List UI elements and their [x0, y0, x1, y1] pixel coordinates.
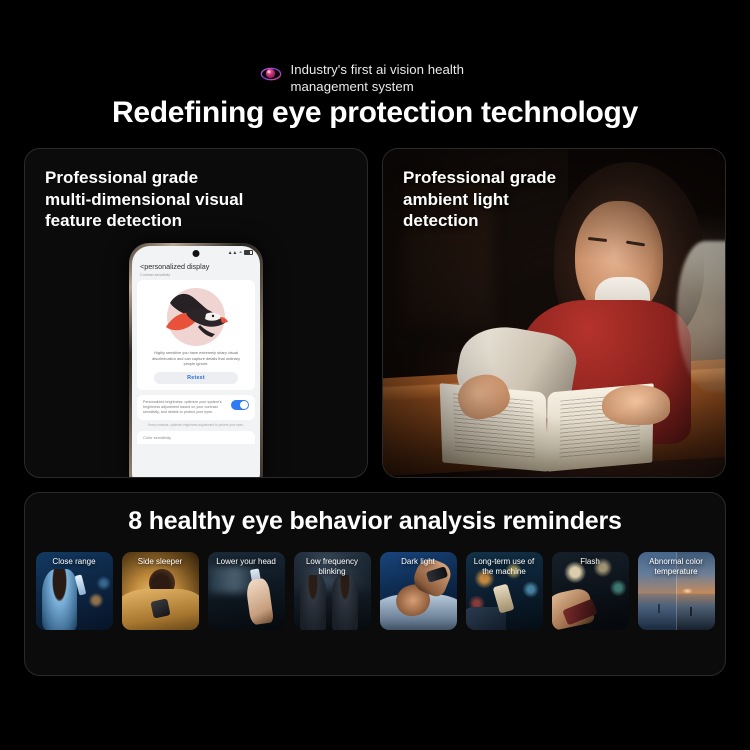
thumb-low-frequency-blinking-label: Low frequency blinking	[294, 557, 371, 576]
thumb-long-term-use-label: Long-term use of the machine	[466, 557, 543, 576]
thumb-abnormal-color-temperature[interactable]: Abnormal color temperature	[638, 552, 715, 630]
page-headline: Redefining eye protection technology	[0, 96, 750, 130]
result-card: Highly sensitive you have extremely shar…	[137, 280, 255, 390]
card-left-title: Professional grade multi-dimensional vis…	[45, 167, 243, 232]
eyebrow-banner: Industry's first ai vision health manage…	[0, 62, 750, 95]
card-visual-feature-detection[interactable]: Professional grade multi-dimensional vis…	[24, 148, 368, 478]
phone-nav-bar[interactable]: <personalized display	[132, 259, 260, 273]
personalized-brightness-toggle[interactable]	[231, 400, 249, 410]
thumb-abnormal-color-temperature-label: Abnormal color temperature	[638, 557, 715, 576]
personalized-brightness-text: Personalized brightness: optimize your s…	[143, 400, 227, 415]
thumb-lower-your-head[interactable]: Lower your head	[208, 552, 285, 630]
thumb-close-range-label: Close range	[36, 557, 113, 567]
thumb-low-frequency-blinking[interactable]: Low frequency blinking	[294, 552, 371, 630]
thumb-flash-label: Flash	[552, 557, 629, 567]
behavior-thumbnail-row: Close range Side sleeper Lower your head…	[25, 536, 725, 630]
phone-nav-title: <personalized display	[140, 262, 252, 271]
battery-icon	[244, 250, 253, 255]
eye-icon	[260, 63, 282, 85]
card-ambient-light-detection[interactable]: Professional grade ambient light detecti…	[382, 148, 726, 478]
thumb-flash[interactable]: Flash	[552, 552, 629, 630]
toggle-knob	[240, 401, 248, 409]
signal-icon: ▲▲	[228, 250, 238, 256]
camera-punch-hole-icon	[193, 250, 200, 257]
thumb-lower-your-head-label: Lower your head	[208, 557, 285, 567]
thumb-side-sleeper[interactable]: Side sleeper	[122, 552, 199, 630]
contrast-sensitivity-label: Contrast sensitivity	[132, 273, 260, 279]
thumb-dark-light-label: Dark light	[380, 557, 457, 567]
behavior-reminders-title: 8 healthy eye behavior analysis reminder…	[25, 507, 725, 536]
wifi-icon: ◓	[239, 250, 242, 256]
thumb-close-range[interactable]: Close range	[36, 552, 113, 630]
eagle-icon	[160, 289, 232, 347]
personalized-brightness-row[interactable]: Personalized brightness: optimize your s…	[137, 395, 255, 420]
color-sensitivity-section[interactable]: Color sensitivity	[137, 431, 255, 444]
thumb-side-sleeper-label: Side sleeper	[122, 557, 199, 567]
card-right-title: Professional grade ambient light detecti…	[403, 167, 556, 232]
phone-screen: ▲▲ ◓ <personalized display Contrast sens…	[132, 246, 260, 478]
thumb-dark-light[interactable]: Dark light	[380, 552, 457, 630]
bird-illustration	[142, 284, 250, 350]
result-description: Highly sensitive you have extremely shar…	[142, 350, 250, 367]
card-behavior-reminders: 8 healthy eye behavior analysis reminder…	[24, 492, 726, 676]
retest-button[interactable]: Retest	[154, 372, 238, 384]
brightness-foot-note: Keep constant, optimize brightness adjus…	[132, 420, 260, 427]
eyebrow-text: Industry's first ai vision health manage…	[291, 62, 491, 95]
promo-page: Industry's first ai vision health manage…	[0, 0, 750, 750]
phone-status-bar: ▲▲ ◓	[132, 246, 260, 259]
thumb-long-term-use[interactable]: Long-term use of the machine	[466, 552, 543, 630]
phone-mockup: ▲▲ ◓ <personalized display Contrast sens…	[129, 243, 263, 478]
